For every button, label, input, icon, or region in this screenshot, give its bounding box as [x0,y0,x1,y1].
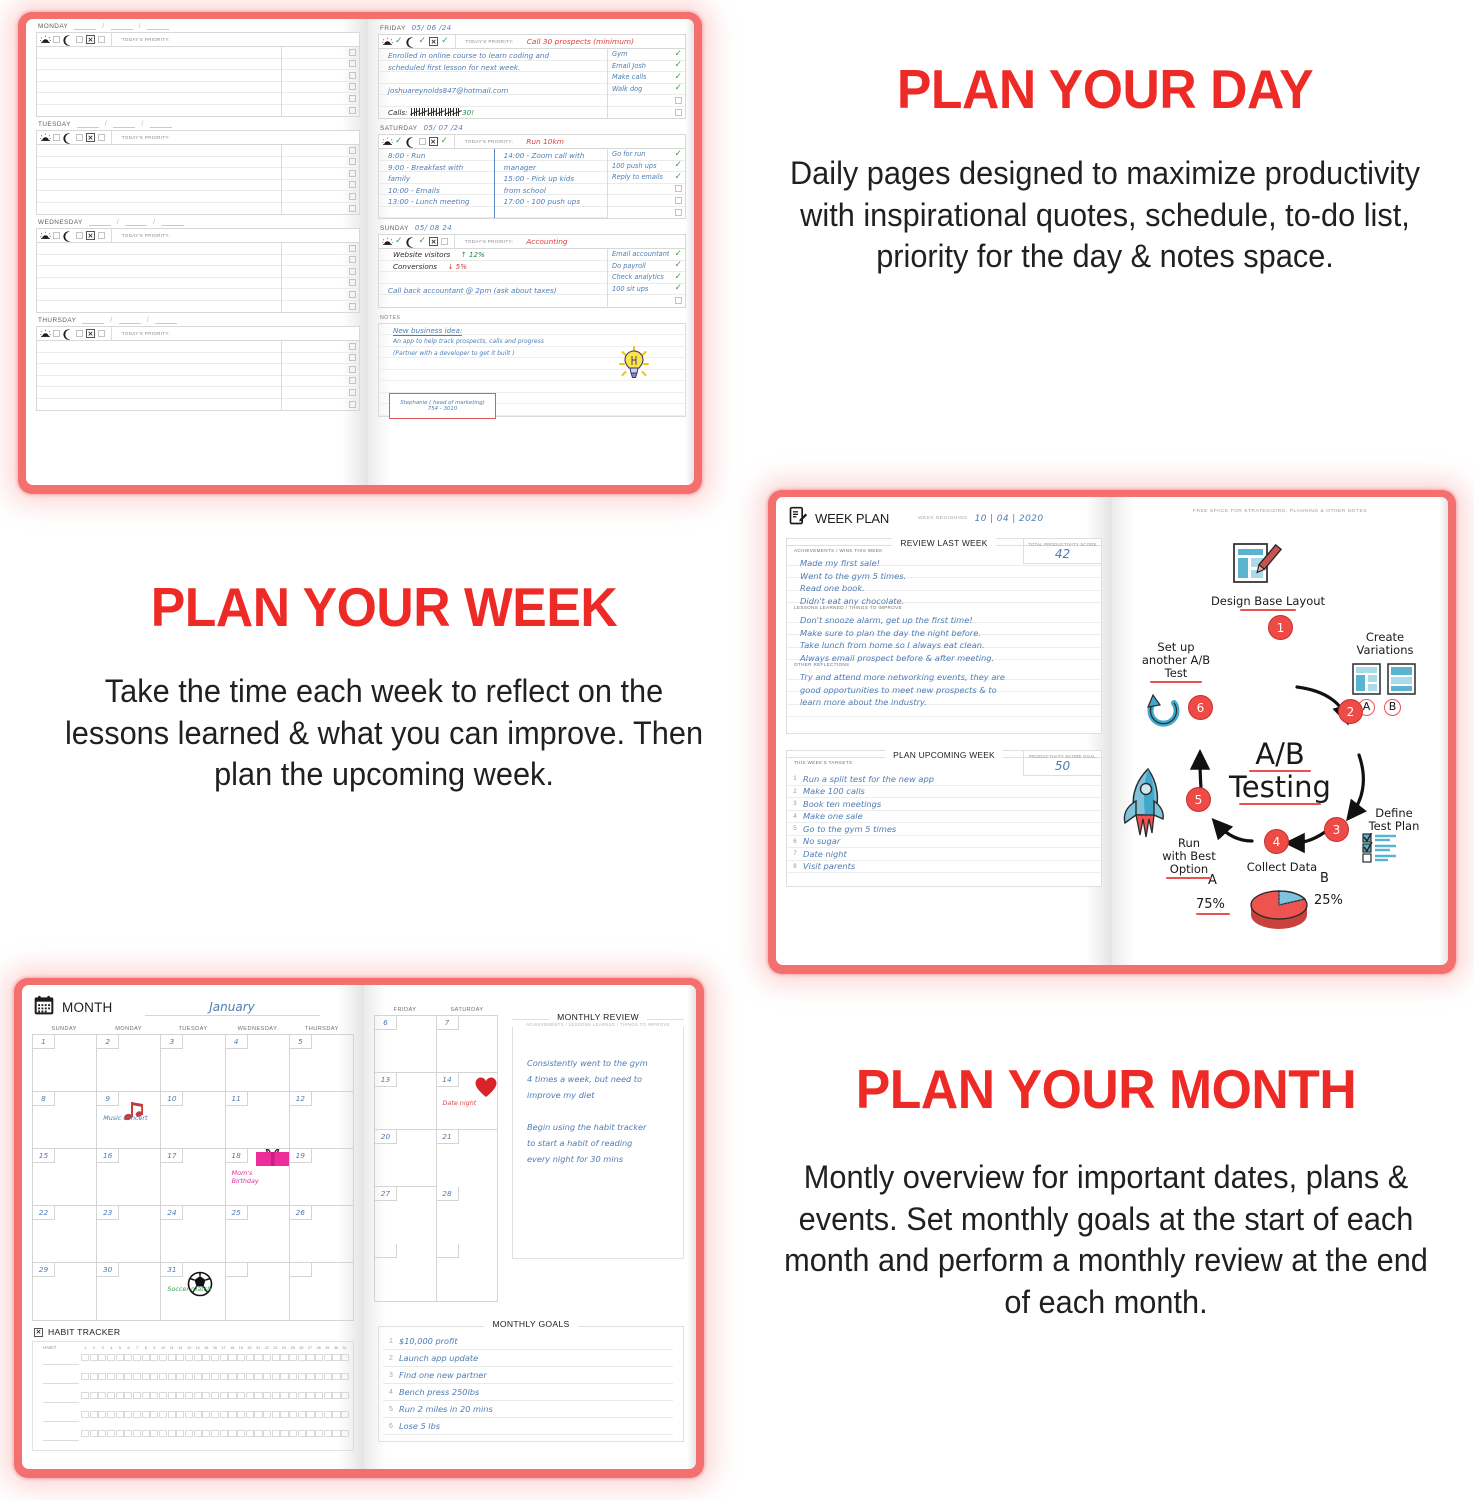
monthly-review-line[interactable]: 4 times a week, but need to [527,1071,671,1087]
habit-cell[interactable] [159,1392,167,1400]
habit-cell[interactable] [194,1354,202,1362]
ruled-line[interactable] [495,207,607,219]
calendar-event-label[interactable]: Date night [443,1099,499,1107]
ruled-line[interactable] [37,180,281,192]
monthly-review-line[interactable]: every night for 30 mins [527,1151,671,1167]
checkmark-icon[interactable]: ✓ [674,73,682,82]
monthly-review-body[interactable]: Consistently went to the gym4 times a we… [512,1027,684,1259]
todo-item[interactable] [608,95,685,107]
habit-cell[interactable] [280,1411,288,1419]
checkbox[interactable] [53,232,60,239]
habit-cell[interactable] [202,1373,210,1381]
checkbox[interactable] [349,389,356,396]
calendar-cell[interactable]: 25 [226,1206,290,1263]
habit-cell[interactable] [263,1354,271,1362]
ruled-line[interactable] [379,95,607,107]
habit-cell[interactable] [142,1430,150,1438]
habit-cell[interactable] [142,1411,150,1419]
todo-item[interactable] [282,180,359,192]
habit-cell[interactable] [211,1430,219,1438]
notes-lines[interactable]: Website visitors ↑ 12% Conversions ↓ 5% … [379,249,607,307]
todo-item[interactable]: Make calls ✓ [608,72,685,84]
todo-item[interactable]: Do payroll ✓ [608,261,685,273]
calendar-event-label[interactable]: Soccer match [167,1285,215,1293]
habit-cell[interactable] [237,1430,245,1438]
notes-lines[interactable] [37,341,281,410]
habit-cell[interactable] [254,1392,262,1400]
calendar-cell[interactable]: 13 [375,1073,437,1130]
checkbox[interactable] [349,107,356,114]
day-writing-area[interactable] [36,243,360,313]
date-blank-line[interactable] [147,23,169,30]
ruled-line[interactable] [37,353,281,365]
checkbox[interactable] [98,232,105,239]
ruled-line[interactable]: Try and attend more networking events, t… [787,667,1101,680]
monthly-review-line[interactable]: to start a habit of reading [527,1135,671,1151]
todo-item[interactable] [282,266,359,278]
ruled-line[interactable]: Enrolled in online course to learn codin… [379,49,607,61]
habit-cell[interactable] [220,1392,228,1400]
habit-cell[interactable] [159,1354,167,1362]
target-row[interactable]: 2 Make 100 calls [787,786,1101,799]
todo-item[interactable] [282,243,359,255]
habit-cell[interactable] [90,1392,98,1400]
schedule-entry[interactable]: 8:00 - Run [379,149,494,161]
day-writing-area[interactable]: 8:00 - Run9:00 - Breakfast withfamily10:… [378,149,686,219]
habit-cell[interactable] [228,1392,236,1400]
habit-cell[interactable] [280,1430,288,1438]
habit-cell[interactable] [272,1354,280,1362]
calendar-event-label[interactable]: Music concert [103,1114,151,1122]
ruled-line[interactable] [37,301,281,313]
habit-cell[interactable] [202,1392,210,1400]
calendar-cell[interactable]: 12 [290,1092,354,1149]
todo-item[interactable] [282,93,359,105]
todo-item[interactable]: Go for run ✓ [608,149,685,161]
habit-cell[interactable] [142,1354,150,1362]
checkbox[interactable] [349,72,356,79]
habit-cell[interactable] [298,1354,306,1362]
schedule-two-columns[interactable]: 8:00 - Run9:00 - Breakfast withfamily10:… [379,149,607,218]
schedule-entry[interactable]: from school [495,184,607,196]
calendar-cell[interactable]: 6 [375,1016,437,1073]
ruled-line[interactable] [37,387,281,399]
todo-item[interactable]: Reply to emails ✓ [608,172,685,184]
checkmark-icon[interactable]: ✓ [674,84,682,93]
todo-item[interactable] [282,399,359,411]
calendar-cell[interactable]: 14 Date night [437,1073,499,1130]
todo-item[interactable] [282,70,359,82]
habit-cell[interactable] [237,1354,245,1362]
habit-cell[interactable] [306,1430,314,1438]
habit-cell[interactable] [176,1392,184,1400]
todo-item[interactable] [282,105,359,117]
habit-cell[interactable] [168,1354,176,1362]
monthly-goal-row[interactable]: 5 Run 2 miles in 20 mins [383,1401,673,1418]
habit-cell[interactable] [228,1354,236,1362]
checkbox[interactable] [349,60,356,67]
target-row[interactable]: 3 Book ten meetings [787,798,1101,811]
month-name-value[interactable]: January [145,1000,320,1016]
schedule-entry[interactable]: manager [495,161,607,173]
habit-cell[interactable] [272,1411,280,1419]
checkbox[interactable] [98,36,105,43]
habit-cell[interactable] [254,1411,262,1419]
date-blank-line[interactable] [74,23,96,30]
habit-cell[interactable] [332,1354,340,1362]
checkbox[interactable] [349,83,356,90]
checkmark-icon[interactable]: ✓ [441,37,449,46]
calendar-cell[interactable]: 24 [161,1206,225,1263]
calendar-cell[interactable]: 3 [161,1035,225,1092]
habit-cell[interactable] [306,1373,314,1381]
habit-day-cells[interactable] [81,1411,349,1423]
habit-cell[interactable] [315,1354,323,1362]
date-blank-line[interactable] [162,219,184,226]
checkmark-icon[interactable]: ✓ [674,61,682,70]
schedule-entry[interactable]: 17:00 - 100 push ups [495,195,607,207]
day-date[interactable]: 05/ 07 /24 [423,123,463,132]
habit-cell[interactable] [185,1392,193,1400]
ruled-line[interactable] [37,168,281,180]
habit-cell[interactable] [246,1411,254,1419]
checkbox[interactable] [419,138,426,145]
calendar-cell[interactable]: 16 [97,1149,161,1206]
habit-cell[interactable] [194,1430,202,1438]
total-productivity-score[interactable]: TOTAL PRODUCTIVITY SCORE 42 [1023,539,1101,564]
ruled-line[interactable] [37,399,281,411]
todo-item[interactable]: Walk dog ✓ [608,84,685,96]
calendar-cell-empty[interactable] [437,1244,499,1301]
habit-cell[interactable] [107,1411,115,1419]
habit-cell[interactable] [315,1411,323,1419]
checkmark-icon[interactable]: ✓ [395,37,403,46]
schedule-entry[interactable]: 10:00 - Emails [379,184,494,196]
habit-cell[interactable] [280,1373,288,1381]
todo-item[interactable] [282,191,359,203]
target-row[interactable]: 6 No sugar [787,836,1101,849]
calendar-cell[interactable]: 22 [33,1206,97,1263]
week-beginning-date[interactable]: 10 | 04 | 2020 [975,514,1044,524]
calendar-cell[interactable]: 20 [375,1130,437,1187]
calendar-cell[interactable]: 17 [161,1149,225,1206]
checkmark-icon[interactable]: ✓ [395,137,403,146]
habit-cell[interactable] [306,1392,314,1400]
habit-cell[interactable] [289,1430,297,1438]
habit-cell[interactable] [341,1392,349,1400]
notes-lines[interactable]: Enrolled in online course to learn codin… [379,49,607,118]
checkbox[interactable] [349,268,356,275]
habit-cell[interactable] [254,1373,262,1381]
habit-cell[interactable] [211,1411,219,1419]
date-blank-line[interactable] [125,219,147,226]
habit-cell[interactable] [332,1430,340,1438]
habit-cell[interactable] [98,1392,106,1400]
ruled-line[interactable] [379,72,607,84]
metric-row[interactable]: Conversions ↓ 5% [379,261,607,273]
date-blank-line[interactable] [89,219,111,226]
todo-item[interactable] [282,168,359,180]
checkbox[interactable] [349,401,356,408]
checkmark-icon[interactable]: ✓ [419,37,427,46]
ruled-line[interactable] [37,93,281,105]
day-writing-area[interactable] [36,47,360,117]
todo-item[interactable] [282,82,359,94]
metric-row[interactable]: Website visitors ↑ 12% [379,249,607,261]
monthly-review-line[interactable]: improve my diet [527,1087,671,1103]
habit-row[interactable] [37,1426,349,1445]
habit-cell[interactable] [263,1430,271,1438]
habit-cell[interactable] [133,1411,141,1419]
habit-cell[interactable] [107,1392,115,1400]
habit-cell[interactable] [228,1373,236,1381]
checkbox[interactable] [349,366,356,373]
habit-cell[interactable] [341,1411,349,1419]
habit-cell[interactable] [116,1411,124,1419]
habit-cell[interactable] [263,1411,271,1419]
day-date[interactable]: 05/ 06 /24 [412,23,452,32]
checkbox[interactable] [675,197,682,204]
habit-cell[interactable] [341,1354,349,1362]
habit-cell[interactable] [133,1373,141,1381]
habit-cell[interactable] [150,1354,158,1362]
todo-item[interactable] [282,203,359,215]
habit-cell[interactable] [150,1430,158,1438]
priority-value[interactable]: Run 10km [526,137,564,146]
habit-cell[interactable] [185,1430,193,1438]
habit-cell[interactable] [306,1354,314,1362]
habit-day-cells[interactable] [81,1354,349,1366]
ruled-line[interactable] [37,157,281,169]
habit-cell[interactable] [168,1392,176,1400]
habit-cell[interactable] [298,1392,306,1400]
todo-item[interactable] [282,47,359,59]
habit-cell[interactable] [220,1354,228,1362]
habit-cell[interactable] [150,1373,158,1381]
habit-cell[interactable] [324,1373,332,1381]
habit-cell[interactable] [289,1411,297,1419]
habit-name-input[interactable] [37,1388,81,1407]
checkbox[interactable] [349,291,356,298]
checkmark-icon[interactable]: ✓ [674,173,682,182]
calendar-cell[interactable]: 4 [226,1035,290,1092]
habit-cell[interactable] [237,1392,245,1400]
ruled-line[interactable]: joshuareynolds847@hotmail.com [379,84,607,96]
priority-value[interactable]: Accounting [526,237,567,246]
checkbox[interactable] [349,245,356,252]
habit-cell[interactable] [289,1392,297,1400]
habit-cell[interactable] [315,1430,323,1438]
habit-cell[interactable] [211,1392,219,1400]
todo-item[interactable] [282,376,359,388]
ruled-line[interactable]: good opportunities to meet new prospects… [787,680,1101,693]
habit-cell[interactable] [133,1354,141,1362]
habit-cell[interactable] [289,1373,297,1381]
todo-item[interactable] [608,295,685,307]
day-writing-area[interactable]: Enrolled in online course to learn codin… [378,49,686,119]
ruled-line[interactable] [37,376,281,388]
ruled-line[interactable]: Didn't eat any chocolate. [787,591,1101,604]
todo-item[interactable]: 100 sit ups ✓ [608,284,685,296]
ruled-line[interactable]: Read one book. [787,578,1101,591]
habit-cell[interactable] [159,1430,167,1438]
checkmark-icon[interactable]: ✓ [674,261,682,270]
todo-item[interactable]: Email accountant ✓ [608,249,685,261]
calendar-cell[interactable]: 30 [97,1263,161,1320]
calendar-cell[interactable]: 18 Mom's Birthday [226,1149,290,1206]
ruled-line[interactable] [37,191,281,203]
date-blank-line[interactable] [119,317,141,324]
ruled-line[interactable] [37,105,281,117]
habit-cell[interactable] [280,1354,288,1362]
habit-cell[interactable] [176,1411,184,1419]
todo-item[interactable] [608,195,685,207]
habit-row[interactable] [37,1407,349,1426]
habit-row[interactable] [37,1388,349,1407]
habit-cell[interactable] [211,1354,219,1362]
todo-item[interactable] [282,145,359,157]
checkmark-icon[interactable]: ✓ [419,237,427,246]
habit-cell[interactable] [176,1373,184,1381]
checkbox[interactable] [675,185,682,192]
calendar-cell[interactable]: 26 [290,1206,354,1263]
date-blank-line[interactable] [155,317,177,324]
checkbox[interactable] [441,238,448,245]
habit-cell[interactable] [246,1373,254,1381]
ruled-line[interactable] [37,364,281,376]
habit-cell[interactable] [124,1373,132,1381]
habit-cell[interactable] [332,1411,340,1419]
checkbox[interactable] [349,354,356,361]
habit-cell[interactable] [228,1430,236,1438]
todo-item[interactable] [282,157,359,169]
calendar-cell[interactable]: 31 Soccer match [161,1263,225,1320]
ruled-line[interactable]: Take lunch from home so I always eat cle… [787,635,1101,648]
monthly-goal-row[interactable]: 3 Find one new partner [383,1367,673,1384]
ruled-line[interactable] [379,295,607,307]
habit-cell[interactable] [324,1354,332,1362]
habit-cell[interactable] [90,1430,98,1438]
habit-cell[interactable] [81,1392,89,1400]
habit-cell[interactable] [81,1411,89,1419]
target-row[interactable]: 7 Date night [787,848,1101,861]
ruled-line[interactable] [379,207,494,219]
schedule-entry[interactable]: family [379,172,494,184]
todo-item[interactable] [608,184,685,196]
checkmark-icon[interactable]: ✓ [674,284,682,293]
monthly-review-line[interactable] [527,1103,671,1119]
ruled-line[interactable] [37,243,281,255]
habit-cell[interactable] [185,1411,193,1419]
habit-cell[interactable] [133,1392,141,1400]
habit-cell[interactable] [220,1373,228,1381]
schedule-entry[interactable]: 13:00 - Lunch meeting [379,195,494,207]
habit-cell[interactable] [107,1430,115,1438]
calendar-cell[interactable]: 28 [437,1187,499,1244]
calendar-cell[interactable]: 5 [290,1035,354,1092]
habit-cell[interactable] [211,1373,219,1381]
target-row[interactable]: 5 Go to the gym 5 times [787,823,1101,836]
calendar-cell[interactable]: 8 [33,1092,97,1149]
habit-cell[interactable] [98,1354,106,1362]
monthly-goal-row[interactable]: 2 Launch app update [383,1350,673,1367]
habit-cell[interactable] [298,1411,306,1419]
checkbox[interactable] [349,170,356,177]
habit-cell[interactable] [98,1411,106,1419]
habit-cell[interactable] [185,1373,193,1381]
ruled-line[interactable] [379,272,607,284]
habit-cell[interactable] [246,1430,254,1438]
checkbox[interactable] [349,303,356,310]
habit-cell[interactable] [272,1392,280,1400]
checkbox[interactable] [675,297,682,304]
habit-cell[interactable] [116,1430,124,1438]
calendar-cell-empty[interactable] [290,1263,354,1320]
calendar-cell[interactable]: 15 [33,1149,97,1206]
checkbox[interactable] [675,109,682,116]
habit-cell[interactable] [298,1373,306,1381]
date-blank-line[interactable] [82,317,104,324]
habit-day-cells[interactable] [81,1392,349,1404]
calendar-cell-empty[interactable] [375,1244,437,1301]
checkbox[interactable] [76,330,83,337]
calendar-cell[interactable]: 19 [290,1149,354,1206]
habit-cell[interactable] [237,1373,245,1381]
monthly-review-line[interactable]: Begin using the habit tracker [527,1119,671,1135]
todo-item[interactable]: 100 push ups ✓ [608,161,685,173]
checkbox[interactable] [98,330,105,337]
habit-cell[interactable] [332,1373,340,1381]
calendar-cell[interactable]: 29 [33,1263,97,1320]
habit-cell[interactable] [263,1373,271,1381]
todo-item[interactable] [282,255,359,267]
habit-cell[interactable] [176,1430,184,1438]
productivity-score-goal[interactable]: PRODUCTIVITY SCORE GOAL 50 [1023,751,1101,776]
checkmark-icon[interactable]: ✓ [674,161,682,170]
ruled-line[interactable] [37,203,281,215]
monthly-goal-row[interactable]: 4 Bench press 250lbs [383,1384,673,1401]
checkmark-icon[interactable]: ✓ [395,237,403,246]
ruled-line[interactable]: Don't snooze alarm, get up the first tim… [787,610,1101,623]
habit-cell[interactable] [332,1392,340,1400]
checkbox[interactable] [76,36,83,43]
ruled-line[interactable]: Went to the gym 5 times. [787,566,1101,579]
habit-cell[interactable] [116,1354,124,1362]
todo-item[interactable] [282,353,359,365]
todo-item[interactable] [282,341,359,353]
habit-cell[interactable] [202,1430,210,1438]
day-date[interactable]: 05/ 08 24 [415,223,452,232]
habit-cell[interactable] [194,1392,202,1400]
habit-cell[interactable] [124,1392,132,1400]
checkbox[interactable] [349,256,356,263]
habit-cell[interactable] [306,1411,314,1419]
checkbox[interactable] [53,330,60,337]
habit-cell[interactable] [289,1354,297,1362]
todo-item[interactable] [282,301,359,313]
habit-cell[interactable] [263,1392,271,1400]
notes-area[interactable]: New business idea: An app to help track … [378,323,686,417]
habit-name-input[interactable] [37,1369,81,1388]
checkbox[interactable] [349,147,356,154]
habit-cell[interactable] [272,1430,280,1438]
habit-cell[interactable] [168,1430,176,1438]
target-row[interactable]: 8 Visit parents [787,861,1101,874]
monthly-review-line[interactable]: Consistently went to the gym [527,1055,671,1071]
habit-cell[interactable] [315,1373,323,1381]
calendar-cell[interactable]: 7 [437,1016,499,1073]
habit-cell[interactable] [202,1354,210,1362]
